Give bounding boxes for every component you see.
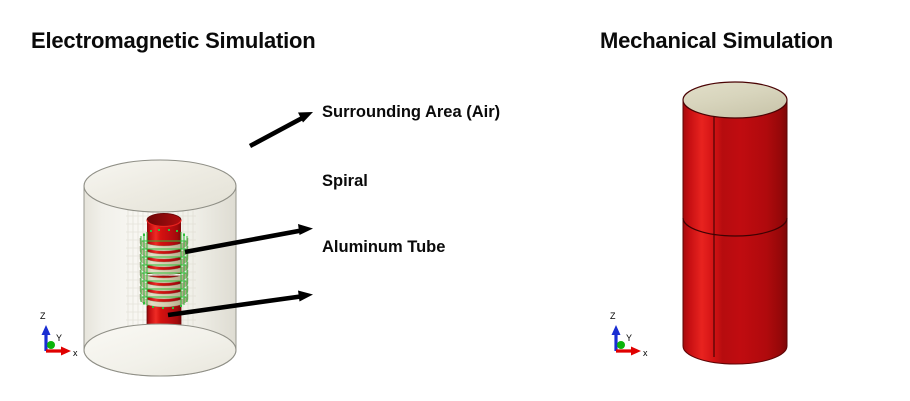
callout-arrow-air xyxy=(250,112,313,146)
air-cylinder-top-cap xyxy=(84,160,236,212)
page-title-mechanical: Mechanical Simulation xyxy=(600,28,833,54)
axis-y-sphere xyxy=(47,341,55,349)
mechanical-cylinder-body xyxy=(683,100,787,364)
axis-triad-right: Z x Y xyxy=(610,311,648,358)
axis-triad-left: Z x Y xyxy=(40,311,78,358)
axis-x-arrowhead xyxy=(631,347,641,356)
axis-y-label: Y xyxy=(56,333,62,343)
axis-z-label: Z xyxy=(40,311,46,321)
mechanical-model-viewport: Z x Y xyxy=(590,60,910,401)
callout-label-spiral: Spiral xyxy=(322,172,368,191)
mechanical-cylinder xyxy=(683,82,787,364)
electromagnetic-model-viewport: Z x Y xyxy=(0,60,320,401)
axis-x-label: x xyxy=(643,348,648,358)
axis-y-sphere xyxy=(617,341,625,349)
page-title-electromagnetic: Electromagnetic Simulation xyxy=(31,28,316,54)
callout-label-surrounding-area: Surrounding Area (Air) xyxy=(322,103,500,122)
axis-z-label: Z xyxy=(610,311,616,321)
air-cylinder-bottom-cap xyxy=(84,324,236,376)
slide-canvas: Electromagnetic Simulation Mechanical Si… xyxy=(0,0,910,401)
axis-z-arrowhead xyxy=(612,325,621,335)
callout-label-aluminum-tube: Aluminum Tube xyxy=(322,238,445,257)
axis-z-arrowhead xyxy=(42,325,51,335)
axis-x-arrowhead xyxy=(61,347,71,356)
mechanical-cylinder-top-cap xyxy=(683,82,787,118)
axis-x-label: x xyxy=(73,348,78,358)
axis-y-label: Y xyxy=(626,333,632,343)
